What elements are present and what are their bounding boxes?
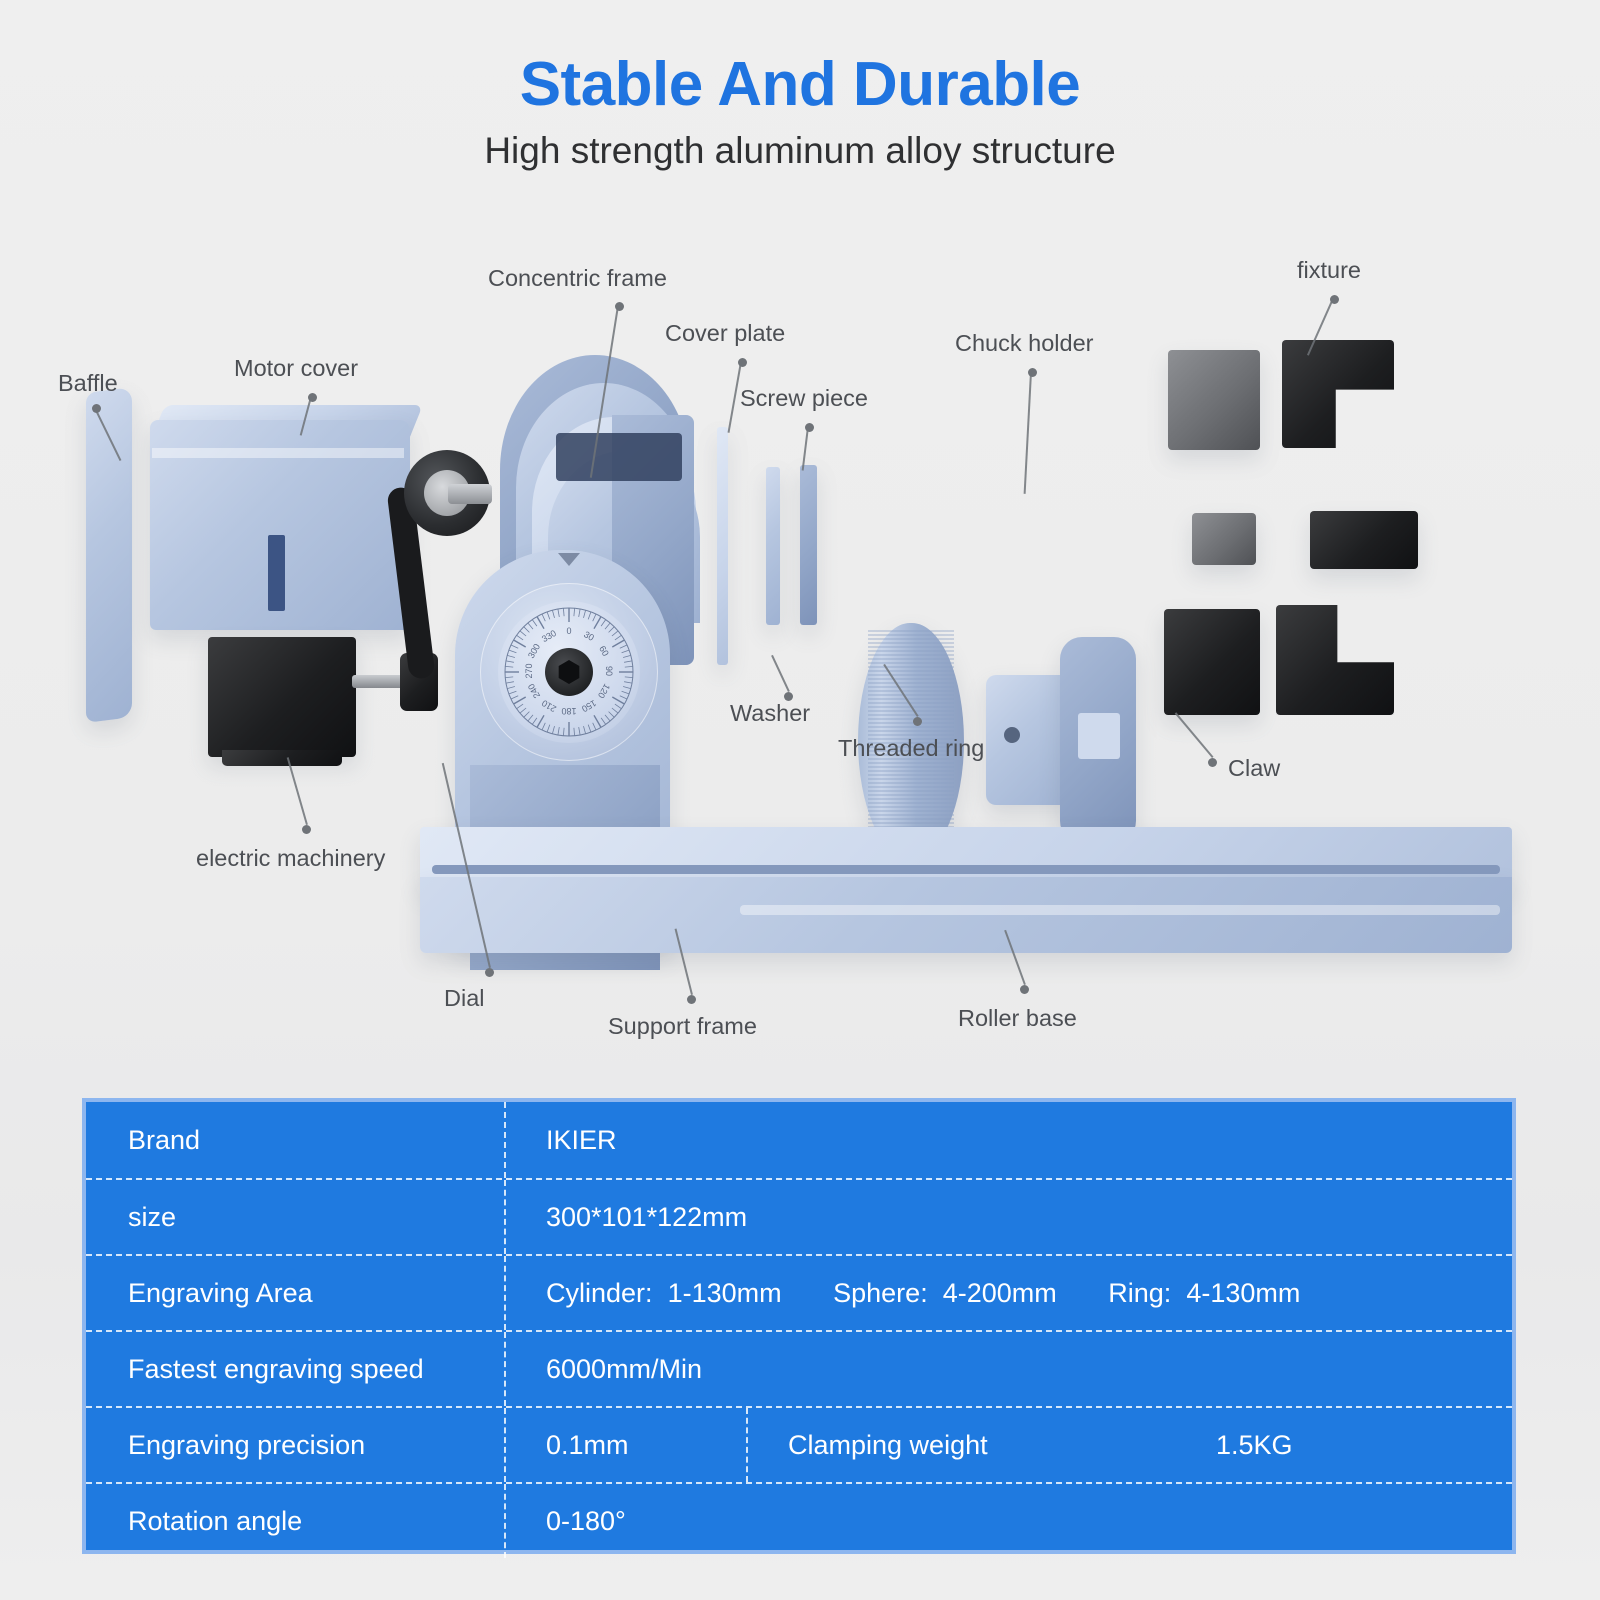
page-title: Stable And Durable: [0, 52, 1600, 117]
concentric-frame-inner-shadow: [556, 433, 682, 481]
callout-dot-washer: [784, 692, 793, 701]
callout-label-support-frame: Support frame: [608, 1013, 757, 1039]
drive-pulley-nose: [448, 484, 492, 504]
spec-label-fastest-speed: Fastest engraving speed: [86, 1354, 504, 1385]
spec-label-precision: Engraving precision: [86, 1430, 504, 1461]
engraving-area-ring: Ring: 4-130mm: [1108, 1278, 1300, 1309]
spec-label-size: size: [86, 1202, 504, 1233]
callout-label-cover-plate: Cover plate: [665, 320, 785, 346]
spec-col-divider-secondary: [746, 1408, 748, 1482]
callout-label-washer: Washer: [730, 700, 810, 726]
callout-dot-roller-base: [1020, 985, 1029, 994]
spec-col-divider: [504, 1102, 506, 1178]
callout-roller-base: Roller base: [958, 1005, 1077, 1032]
infographic-page: Stable And Durable High strength aluminu…: [0, 0, 1600, 1600]
claw-part-top-left: [1168, 350, 1260, 450]
chuck-holder-slot: [1078, 713, 1120, 759]
screw-piece-part: [800, 465, 817, 625]
spec-label-rotation-angle: Rotation angle: [86, 1506, 504, 1537]
callout-chuck-holder: Chuck holder: [955, 330, 1093, 357]
spec-col-divider: [504, 1408, 506, 1482]
roller-base-part: [420, 877, 1512, 953]
roller-base-groove: [432, 865, 1500, 874]
spec-value-precision: 0.1mm: [504, 1430, 746, 1461]
callout-line-electric-machinery: [287, 757, 308, 825]
callout-label-roller-base: Roller base: [958, 1005, 1077, 1031]
spec-label-engraving-area: Engraving Area: [86, 1278, 504, 1309]
spec-label-clamping-weight: Clamping weight: [746, 1430, 1216, 1461]
claw-part-bottom-left: [1164, 609, 1260, 715]
callout-line-chuck-holder: [1024, 372, 1032, 494]
engraving-area-sphere-range: 4-200mm: [943, 1278, 1057, 1309]
dial-tick-label: 270: [524, 663, 534, 679]
spec-row-fastest-speed: Fastest engraving speed 6000mm/Min: [86, 1330, 1512, 1406]
electric-machinery-foot: [222, 750, 342, 766]
callout-washer: Washer: [730, 700, 810, 727]
callout-label-motor-cover: Motor cover: [234, 355, 358, 381]
callout-motor-cover: Motor cover: [234, 355, 358, 382]
spec-col-divider: [504, 1180, 506, 1254]
callout-label-fixture: fixture: [1297, 257, 1361, 283]
spec-value-rotation-angle: 0-180°: [504, 1506, 1512, 1537]
callout-dot-electric-machinery: [302, 825, 311, 834]
spec-value-size: 300*101*122mm: [504, 1202, 1512, 1233]
engraving-area-sphere-name: Sphere:: [833, 1278, 928, 1309]
callout-dot-support-frame: [687, 995, 696, 1004]
spec-col-divider: [504, 1332, 506, 1406]
engraving-area-cylinder-range: 1-130mm: [668, 1278, 782, 1309]
engraving-area-sphere: Sphere: 4-200mm: [833, 1278, 1057, 1309]
callout-threaded-ring: Threaded ring: [838, 735, 984, 762]
spec-row-precision: Engraving precision 0.1mm Clamping weigh…: [86, 1406, 1512, 1482]
page-subtitle: High strength aluminum alloy structure: [0, 131, 1600, 172]
callout-label-baffle: Baffle: [58, 370, 118, 396]
spec-table-body: Brand IKIER size 300*101*122mm Engraving…: [86, 1102, 1512, 1550]
dial-tick-label: 90: [604, 663, 614, 679]
spec-row-brand: Brand IKIER: [86, 1102, 1512, 1178]
callout-label-threaded-ring: Threaded ring: [838, 735, 984, 761]
spec-col-divider: [504, 1256, 506, 1330]
roller-base-rail-highlight: [740, 905, 1500, 915]
fixture-part-bottom-right: [1276, 605, 1394, 715]
dial-pointer-icon: [558, 553, 580, 566]
callout-label-chuck-holder: Chuck holder: [955, 330, 1093, 356]
spec-col-divider: [504, 1484, 506, 1558]
spec-row-engraving-area: Engraving Area Cylinder: 1-130mm Sphere:…: [86, 1254, 1512, 1330]
spec-table: Brand IKIER size 300*101*122mm Engraving…: [82, 1098, 1516, 1554]
product-exploded-diagram: 0306090120150180210240270300330: [0, 205, 1600, 1085]
washer-part: [766, 467, 780, 625]
callout-baffle: Baffle: [58, 370, 118, 397]
motor-cover-slot: [268, 535, 285, 611]
callout-dial: Dial: [444, 985, 484, 1012]
chuck-holder-bore: [1004, 727, 1020, 743]
callout-label-screw-piece: Screw piece: [740, 385, 868, 411]
electric-machinery-part: [208, 637, 356, 757]
callout-electric-machinery: electric machinery: [196, 845, 385, 872]
engraving-area-ring-name: Ring:: [1108, 1278, 1171, 1309]
callout-cover-plate: Cover plate: [665, 320, 785, 347]
callout-claw: Claw: [1228, 755, 1280, 782]
spec-value-engraving-area: Cylinder: 1-130mm Sphere: 4-200mm Ring: …: [504, 1278, 1512, 1309]
callout-support-frame: Support frame: [608, 1013, 757, 1040]
spec-row-size: size 300*101*122mm: [86, 1178, 1512, 1254]
engraving-area-cylinder: Cylinder: 1-130mm: [546, 1278, 782, 1309]
motor-cover-highlight: [152, 448, 404, 458]
dial-tick-label: 180: [561, 706, 577, 716]
callout-label-electric-machinery: electric machinery: [196, 845, 385, 871]
spec-row-rotation-angle: Rotation angle 0-180°: [86, 1482, 1512, 1558]
callout-dot-claw: [1208, 758, 1217, 767]
engraving-area-cylinder-name: Cylinder:: [546, 1278, 653, 1309]
claw-part-mid-left: [1192, 513, 1256, 565]
callout-dot-threaded-ring: [913, 717, 922, 726]
dial-tick-label: 0: [561, 626, 577, 636]
spec-value-fastest-speed: 6000mm/Min: [504, 1354, 1512, 1385]
callout-label-dial: Dial: [444, 985, 484, 1011]
spec-label-brand: Brand: [86, 1125, 504, 1156]
callout-line-washer: [771, 655, 789, 692]
engraving-area-ring-range: 4-130mm: [1186, 1278, 1300, 1309]
callout-dot-dial: [485, 968, 494, 977]
callout-label-claw: Claw: [1228, 755, 1280, 781]
callout-screw-piece: Screw piece: [740, 385, 868, 412]
callout-concentric-frame: Concentric frame: [488, 265, 667, 292]
spec-value-clamping-weight: 1.5KG: [1216, 1430, 1293, 1461]
callout-line-claw: [1175, 713, 1214, 758]
fixture-part-mid-right: [1310, 511, 1418, 569]
callout-label-concentric-frame: Concentric frame: [488, 265, 667, 291]
header: Stable And Durable High strength aluminu…: [0, 52, 1600, 172]
cover-plate-part: [717, 427, 728, 665]
fixture-part-top-right: [1282, 340, 1394, 448]
callout-fixture: fixture: [1297, 257, 1361, 284]
spec-value-brand: IKIER: [504, 1125, 1512, 1156]
